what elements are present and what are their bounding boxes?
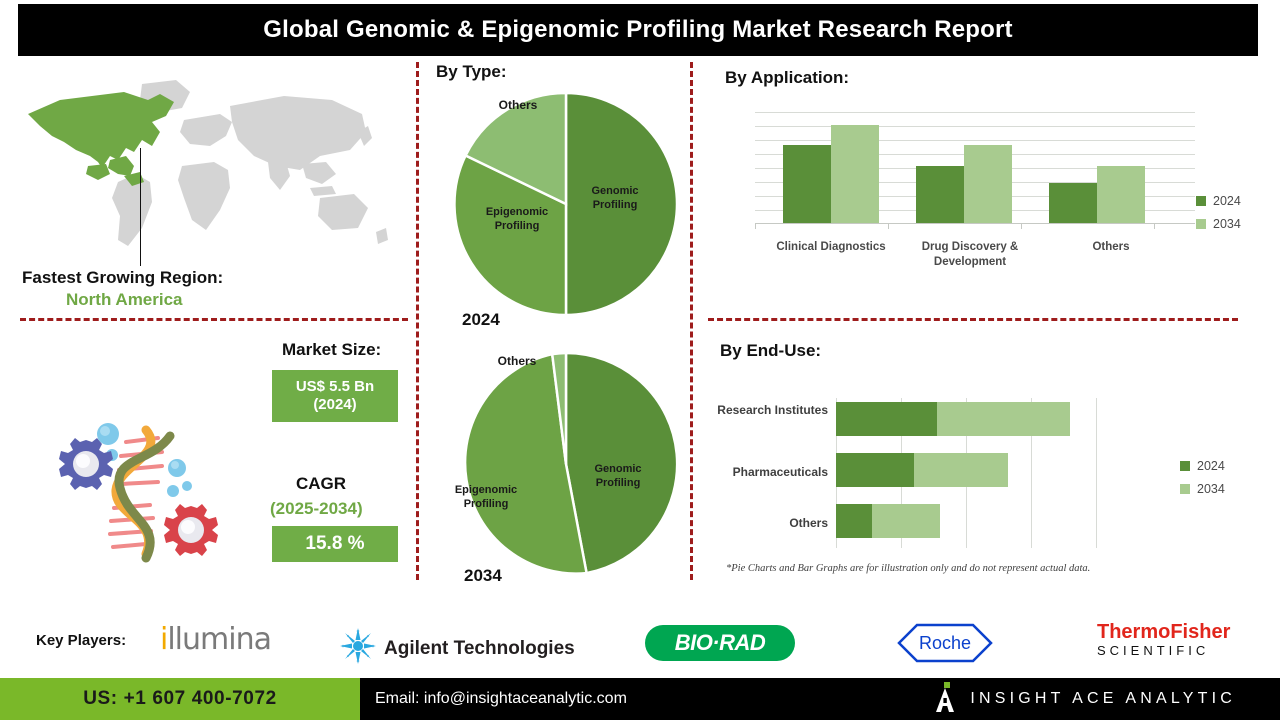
legend-label-2024: 2024	[1197, 459, 1225, 473]
footer-bar: US: +1 607 400-7072 Email: info@insighta…	[0, 678, 1280, 720]
app-category-others: Others	[1036, 240, 1186, 255]
by-enduse-title: By End-Use:	[720, 341, 821, 361]
stacked-bar-research-institutes	[836, 402, 1070, 436]
key-players-label: Key Players:	[36, 632, 126, 649]
bar-2034-drug-discovery	[964, 145, 1012, 223]
pie-2024-label-others: Others	[488, 98, 548, 113]
by-type-title: By Type:	[436, 62, 507, 82]
pie-2024-label-genomic: GenomicProfiling	[580, 185, 650, 213]
logo-illumina: illumina	[160, 622, 271, 657]
gridline	[755, 112, 1195, 113]
segment-2024	[836, 504, 872, 538]
gridline	[755, 140, 1195, 141]
footer-phone[interactable]: US: +1 607 400-7072	[83, 688, 277, 710]
application-legend: 2024 2034	[1196, 194, 1241, 240]
stacked-bar-pharmaceuticals	[836, 453, 1008, 487]
enduse-category-research-institutes: Research Institutes	[712, 403, 828, 419]
divider-horizontal-right	[708, 318, 1238, 321]
cagr-label: CAGR	[296, 474, 346, 494]
insightace-logo-icon	[932, 682, 958, 717]
x-axis	[755, 223, 1195, 224]
biorad-wordmark: BIO·RAD	[675, 630, 766, 656]
segment-2034	[872, 504, 940, 538]
illumina-wordmark: illumina	[160, 622, 271, 657]
pie-2024-year: 2024	[462, 310, 500, 330]
application-bar-chart	[755, 112, 1195, 224]
bar-2024-clinical-diagnostics	[783, 145, 831, 223]
legend-label-2024: 2024	[1213, 194, 1241, 208]
footer-brand: INSIGHT ACE ANALYTIC	[932, 678, 1236, 720]
market-size-value: US$ 5.5 Bn	[296, 378, 374, 396]
gridline-vertical	[1096, 398, 1097, 548]
axis-tick	[888, 224, 889, 229]
cagr-value: 15.8 %	[305, 533, 364, 556]
page-title: Global Genomic & Epigenomic Profiling Ma…	[263, 16, 1012, 44]
pie-2034-label-genomic: GenomicProfiling	[583, 463, 653, 491]
app-category-drug-discovery: Drug Discovery & Development	[890, 240, 1050, 270]
bar-2034-clinical-diagnostics	[831, 125, 879, 223]
enduse-category-others: Others	[712, 516, 828, 532]
legend-swatch-2034	[1180, 484, 1190, 494]
thermofisher-subtitle: SCIENTIFIC	[1097, 642, 1209, 660]
axis-tick	[755, 224, 756, 229]
illumina-rest: llumina	[167, 622, 271, 657]
market-size-label: Market Size:	[282, 340, 381, 360]
enduse-category-pharmaceuticals: Pharmaceuticals	[700, 465, 828, 481]
legend-item-2024: 2024	[1180, 459, 1225, 473]
enduse-bar-chart	[836, 398, 1098, 548]
divider-vertical-left	[416, 62, 419, 580]
axis-tick	[1154, 224, 1155, 229]
world-map	[14, 70, 409, 270]
map-pointer-line	[140, 148, 141, 266]
segment-2024	[836, 453, 914, 487]
fastest-region-value: North America	[66, 290, 183, 310]
logo-agilent: Agilent Technologies	[340, 628, 575, 669]
agilent-wordmark: Agilent Technologies	[384, 638, 575, 660]
segment-2034	[937, 402, 1070, 436]
segment-2024	[836, 402, 937, 436]
market-size-year: (2024)	[313, 396, 356, 414]
fastest-region-label: Fastest Growing Region:	[22, 268, 223, 288]
legend-item-2024: 2024	[1196, 194, 1241, 208]
legend-swatch-2024	[1180, 461, 1190, 471]
legend-swatch-2024	[1196, 196, 1206, 206]
footer-phone-block: US: +1 607 400-7072	[0, 678, 360, 720]
logo-bio-rad: BIO·RAD	[645, 625, 795, 661]
divider-vertical-right	[690, 62, 693, 580]
cagr-years: (2025-2034)	[270, 499, 363, 519]
market-size-badge: US$ 5.5 Bn (2024)	[272, 370, 398, 422]
bar-2024-drug-discovery	[916, 166, 964, 223]
header-bar: Global Genomic & Epigenomic Profiling Ma…	[18, 4, 1258, 56]
logo-thermofisher: ThermoFisher SCIENTIFIC	[1097, 622, 1230, 660]
thermofisher-wordmark: ThermoFisher	[1097, 622, 1230, 642]
cagr-badge: 15.8 %	[272, 526, 398, 562]
pie-2034-label-epigenomic: EpigenomicProfiling	[443, 484, 529, 512]
pie-2024-label-epigenomic: EpigenomicProfiling	[474, 206, 560, 234]
legend-item-2034: 2034	[1196, 217, 1241, 231]
divider-horizontal-left	[20, 318, 408, 321]
bar-2034-others	[1097, 166, 1145, 223]
legend-item-2034: 2034	[1180, 482, 1225, 496]
logo-roche: Roche	[897, 623, 993, 663]
bar-2024-others	[1049, 183, 1097, 223]
pie-2034-year: 2034	[464, 566, 502, 586]
footer-email[interactable]: Email: info@insightaceanalytic.com	[375, 678, 627, 720]
legend-label-2034: 2034	[1213, 217, 1241, 231]
gridline	[755, 126, 1195, 127]
stacked-bar-others	[836, 504, 940, 538]
segment-2034	[914, 453, 1008, 487]
chart-disclaimer-note: *Pie Charts and Bar Graphs are for illus…	[726, 563, 1090, 574]
by-application-title: By Application:	[725, 68, 849, 88]
axis-tick	[1021, 224, 1022, 229]
agilent-starburst-icon	[340, 628, 376, 669]
footer-brand-text: INSIGHT ACE ANALYTIC	[970, 690, 1236, 708]
legend-label-2034: 2034	[1197, 482, 1225, 496]
dna-gears-illustration	[58, 408, 238, 573]
roche-wordmark: Roche	[897, 623, 993, 663]
legend-swatch-2034	[1196, 219, 1206, 229]
enduse-legend: 2024 2034	[1180, 459, 1225, 505]
pie-2034-label-others: Others	[487, 354, 547, 369]
infographic-page: Global Genomic & Epigenomic Profiling Ma…	[0, 0, 1280, 720]
